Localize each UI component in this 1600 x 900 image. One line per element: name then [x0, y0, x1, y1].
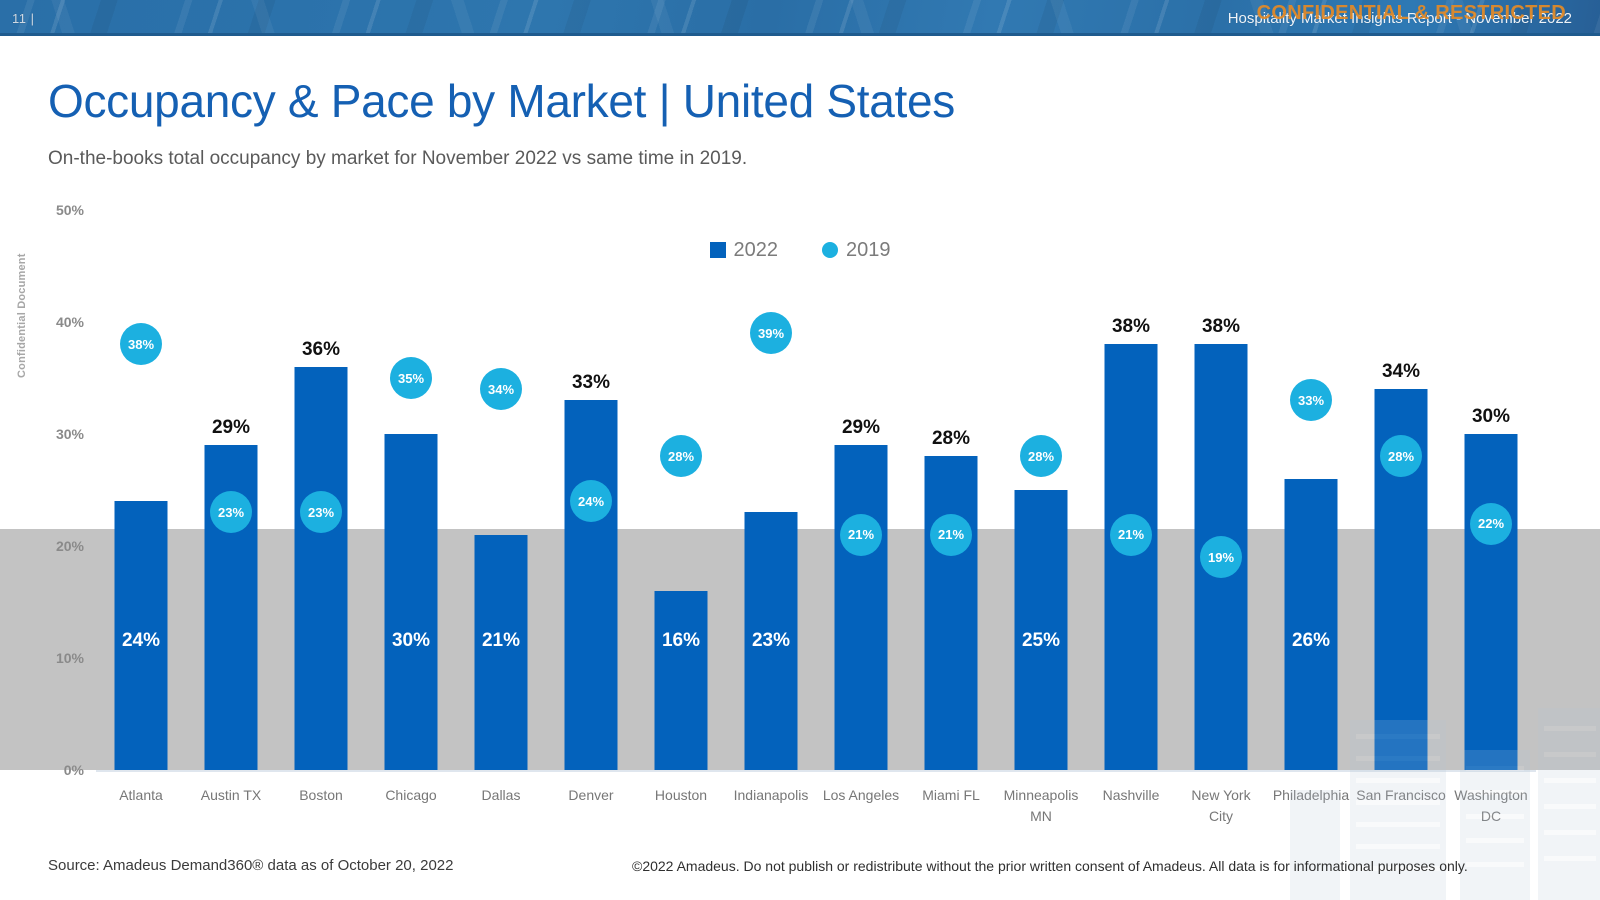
dot-2019[interactable]: 35% [390, 357, 432, 399]
bar-value-label: 34% [1382, 361, 1420, 383]
y-axis-tick: 50% [40, 202, 84, 218]
bar-group[interactable]: 29%21%Los Angeles [816, 210, 906, 770]
dot-2019[interactable]: 21% [840, 514, 882, 556]
bar-value-label: 23% [752, 630, 790, 652]
x-axis-category-label: WashingtonDC [1431, 785, 1551, 827]
bar-2022[interactable] [295, 367, 348, 770]
bar-series-container: 24%38%Atlanta29%23%Austin TX36%23%Boston… [96, 210, 1536, 770]
bar-2022[interactable] [565, 400, 618, 770]
bar-group[interactable]: 25%28%MinneapolisMN [996, 210, 1086, 770]
bar-group[interactable]: 30%35%Chicago [366, 210, 456, 770]
dot-2019[interactable]: 33% [1290, 379, 1332, 421]
bar-group[interactable]: 26%33%Philadelphia [1266, 210, 1356, 770]
dot-2019[interactable]: 28% [1020, 435, 1062, 477]
bar-group[interactable]: 23%39%Indianapolis [726, 210, 816, 770]
bar-value-label: 29% [842, 417, 880, 439]
top-banner: 11 | Hospitality Market Insights Report … [0, 0, 1600, 36]
bar-group[interactable]: 24%38%Atlanta [96, 210, 186, 770]
dot-2019[interactable]: 22% [1470, 503, 1512, 545]
dot-2019[interactable]: 21% [930, 514, 972, 556]
bar-value-label: 38% [1112, 316, 1150, 338]
bar-2022[interactable] [655, 591, 708, 770]
page-title: Occupancy & Pace by Market | United Stat… [48, 74, 955, 128]
dot-2019[interactable]: 24% [570, 480, 612, 522]
dot-2019[interactable]: 19% [1200, 536, 1242, 578]
bar-value-label: 28% [932, 428, 970, 450]
footer-source: Source: Amadeus Demand360® data as of Oc… [48, 857, 453, 874]
bar-2022[interactable] [1285, 479, 1338, 770]
bar-2022[interactable] [475, 535, 528, 770]
bar-2022[interactable] [1465, 434, 1518, 770]
bar-group[interactable]: 16%28%Houston [636, 210, 726, 770]
category-label-line: City [1161, 806, 1281, 827]
chart-area: 0%10%20%30%40%50% 20222019 24%38%Atlanta… [0, 195, 1600, 825]
bar-2022[interactable] [835, 445, 888, 770]
x-axis-baseline [96, 770, 1536, 772]
banner-bottom-rule [0, 33, 1600, 36]
bar-group[interactable]: 33%24%Denver [546, 210, 636, 770]
footer-copyright: ©2022 Amadeus. Do not publish or redistr… [632, 858, 1468, 874]
bar-value-label: 33% [572, 372, 610, 394]
y-axis-tick: 40% [40, 314, 84, 330]
dot-2019[interactable]: 39% [750, 312, 792, 354]
bar-group[interactable]: 21%34%Dallas [456, 210, 546, 770]
dot-2019[interactable]: 28% [660, 435, 702, 477]
bar-value-label: 38% [1202, 316, 1240, 338]
dot-2019[interactable]: 34% [480, 368, 522, 410]
dot-2019[interactable]: 28% [1380, 435, 1422, 477]
category-label-line: Washington [1431, 785, 1551, 806]
category-label-line: MN [981, 806, 1101, 827]
bar-value-label: 26% [1292, 630, 1330, 652]
bar-group[interactable]: 34%28%San Francisco [1356, 210, 1446, 770]
category-label-line: DC [1431, 806, 1551, 827]
dot-2019[interactable]: 23% [210, 491, 252, 533]
bar-2022[interactable] [1105, 344, 1158, 770]
bar-value-label: 30% [1472, 406, 1510, 428]
bar-group[interactable]: 30%22%WashingtonDC [1446, 210, 1536, 770]
bar-value-label: 21% [482, 630, 520, 652]
bar-group[interactable]: 28%21%Miami FL [906, 210, 996, 770]
bar-value-label: 16% [662, 630, 700, 652]
bar-value-label: 29% [212, 417, 250, 439]
bar-value-label: 24% [122, 630, 160, 652]
dot-2019[interactable]: 38% [120, 323, 162, 365]
banner-confidential-stamp: CONFIDENTIAL & RESTRICTED [1257, 2, 1566, 25]
bar-group[interactable]: 29%23%Austin TX [186, 210, 276, 770]
page-subtitle: On-the-books total occupancy by market f… [48, 148, 747, 170]
bar-2022[interactable] [925, 456, 978, 770]
bar-value-label: 36% [302, 339, 340, 361]
y-axis-tick: 10% [40, 650, 84, 666]
bar-2022[interactable] [385, 434, 438, 770]
y-axis-tick: 0% [40, 762, 84, 778]
y-axis-tick: 20% [40, 538, 84, 554]
dot-2019[interactable]: 23% [300, 491, 342, 533]
bar-value-label: 25% [1022, 630, 1060, 652]
bar-group[interactable]: 36%23%Boston [276, 210, 366, 770]
bar-value-label: 30% [392, 630, 430, 652]
page-number: 11 | [12, 11, 34, 26]
bar-group[interactable]: 38%19%New YorkCity [1176, 210, 1266, 770]
dot-2019[interactable]: 21% [1110, 514, 1152, 556]
bar-group[interactable]: 38%21%Nashville [1086, 210, 1176, 770]
y-axis-tick: 30% [40, 426, 84, 442]
